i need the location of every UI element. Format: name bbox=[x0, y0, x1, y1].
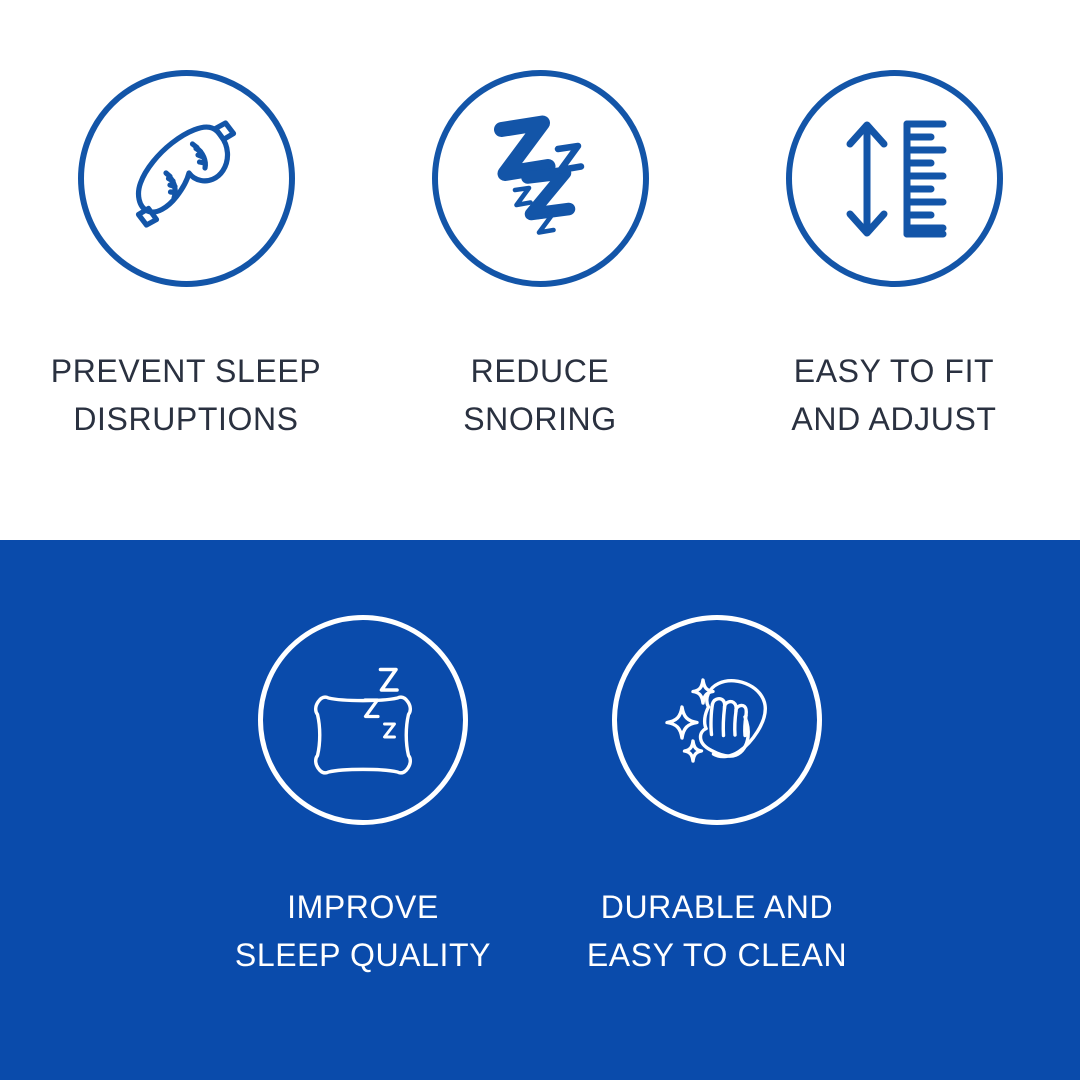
snoring-zzz-icon bbox=[465, 104, 615, 254]
pillow-zzz-icon bbox=[288, 645, 438, 795]
feature-caption: DURABLE AND EASY TO CLEAN bbox=[587, 883, 847, 979]
snoring-badge bbox=[432, 70, 649, 287]
feature-easy-to-fit-and-adjust[interactable]: EASY TO FIT AND ADJUST bbox=[717, 70, 1071, 443]
feature-prevent-sleep-disruptions[interactable]: PREVENT SLEEP DISRUPTIONS bbox=[9, 70, 363, 443]
sleep-mask-badge bbox=[78, 70, 295, 287]
feature-caption: REDUCE SNORING bbox=[463, 347, 617, 443]
cleaning-badge bbox=[612, 615, 822, 825]
top-feature-row: PREVENT SLEEP DISRUPTIONS bbox=[0, 70, 1080, 443]
feature-reduce-snoring[interactable]: REDUCE SNORING bbox=[363, 70, 717, 443]
feature-benefits-panel: PREVENT SLEEP DISRUPTIONS bbox=[0, 0, 1080, 1080]
feature-durable-easy-to-clean[interactable]: DURABLE AND EASY TO CLEAN bbox=[540, 615, 894, 979]
feature-caption: IMPROVE SLEEP QUALITY bbox=[235, 883, 491, 979]
bottom-feature-row: IMPROVE SLEEP QUALITY bbox=[0, 615, 1080, 979]
feature-caption: PREVENT SLEEP DISRUPTIONS bbox=[51, 347, 321, 443]
pillow-badge bbox=[258, 615, 468, 825]
sleep-mask-icon bbox=[111, 104, 261, 254]
feature-improve-sleep-quality[interactable]: IMPROVE SLEEP QUALITY bbox=[186, 615, 540, 979]
feature-caption: EASY TO FIT AND ADJUST bbox=[791, 347, 996, 443]
ruler-badge bbox=[786, 70, 1003, 287]
ruler-arrow-icon bbox=[819, 104, 969, 254]
cleaning-hand-sparkle-icon bbox=[642, 645, 792, 795]
